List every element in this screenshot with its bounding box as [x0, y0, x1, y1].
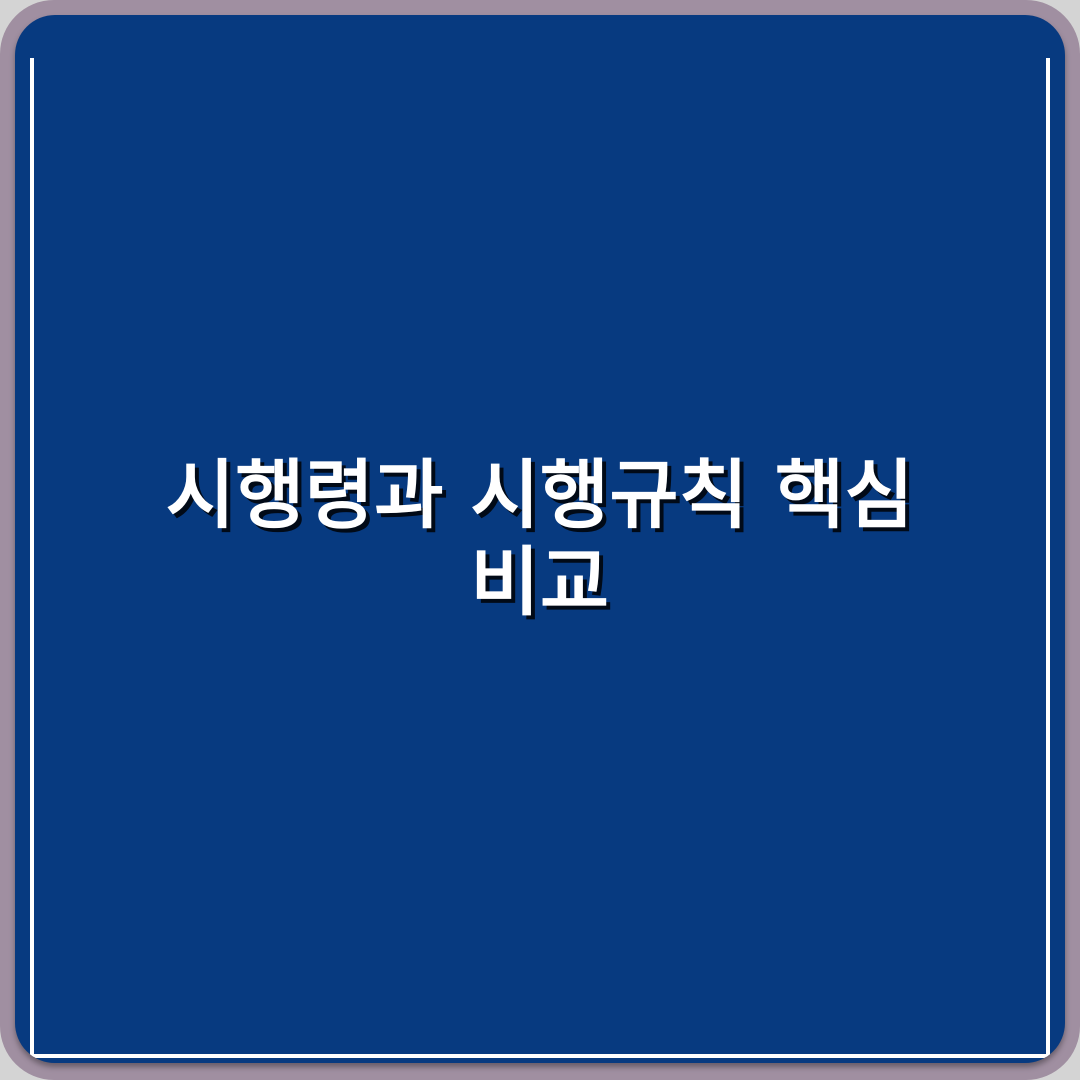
- title-block: 시행령과 시행규칙 핵심 비교: [15, 15, 1065, 1063]
- poster-canvas: 시행령과 시행규칙 핵심 비교: [0, 0, 1080, 1080]
- poster-card: 시행령과 시행규칙 핵심 비교: [15, 15, 1065, 1063]
- poster-title: 시행령과 시행규칙 핵심 비교: [125, 452, 955, 626]
- outer-frame-band: 시행령과 시행규칙 핵심 비교: [0, 0, 1080, 1080]
